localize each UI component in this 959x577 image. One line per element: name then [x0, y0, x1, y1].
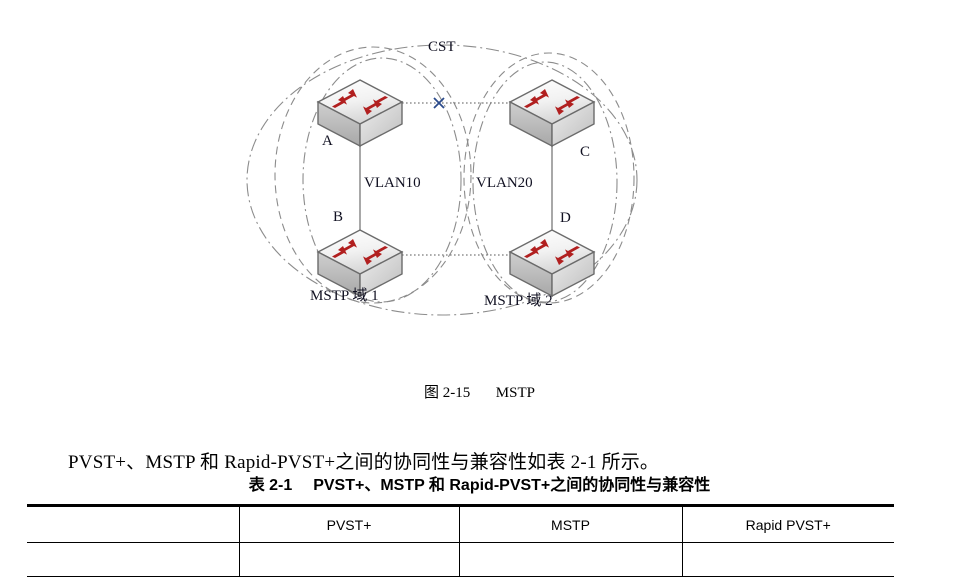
table-title-text: PVST+、MSTP 和 Rapid-PVST+之间的协同性与兼容性 [313, 477, 710, 494]
table-cell-0 [27, 543, 239, 577]
label-mstp-region-2: MSTP 域 2 [484, 294, 553, 309]
label-switch-c: C [580, 145, 590, 160]
label-switch-a: A [322, 134, 333, 149]
table-row [27, 543, 894, 577]
table-header-row: PVST+ MSTP Rapid PVST+ [27, 506, 894, 543]
label-switch-d: D [560, 211, 571, 226]
table-cell-3 [682, 543, 894, 577]
table-title-number: 表 2-1 [249, 477, 293, 494]
compatibility-table: PVST+ MSTP Rapid PVST+ [27, 504, 894, 577]
table-header-cell-3: Rapid PVST+ [682, 506, 894, 543]
figure-caption-number: 图 2-15 [424, 385, 470, 401]
label-mstp-region-1: MSTP 域 1 [310, 289, 379, 304]
table-cell-2 [459, 543, 682, 577]
figure-caption: 图 2-15 MSTP [0, 381, 959, 402]
table-header-cell-1: PVST+ [239, 506, 459, 543]
table-header-cell-2: MSTP [459, 506, 682, 543]
figure-caption-text: MSTP [496, 385, 535, 401]
body-paragraph: PVST+、MSTP 和 Rapid-PVST+之间的协同性与兼容性如表 2-1… [68, 447, 659, 474]
table-cell-1 [239, 543, 459, 577]
table-header-cell-0 [27, 506, 239, 543]
switch-icon-c [510, 80, 594, 146]
label-vlan-right: VLAN20 [476, 176, 533, 191]
table-title: 表 2-1 PVST+、MSTP 和 Rapid-PVST+之间的协同性与兼容性 [0, 471, 959, 495]
label-switch-b: B [333, 210, 343, 225]
figure-mstp-diagram: CST A B C D VLAN10 VLAN20 MSTP 域 1 MSTP … [0, 0, 959, 370]
label-vlan-left: VLAN10 [364, 176, 421, 191]
label-cst: CST [428, 40, 456, 55]
switch-icon-b [318, 230, 402, 296]
